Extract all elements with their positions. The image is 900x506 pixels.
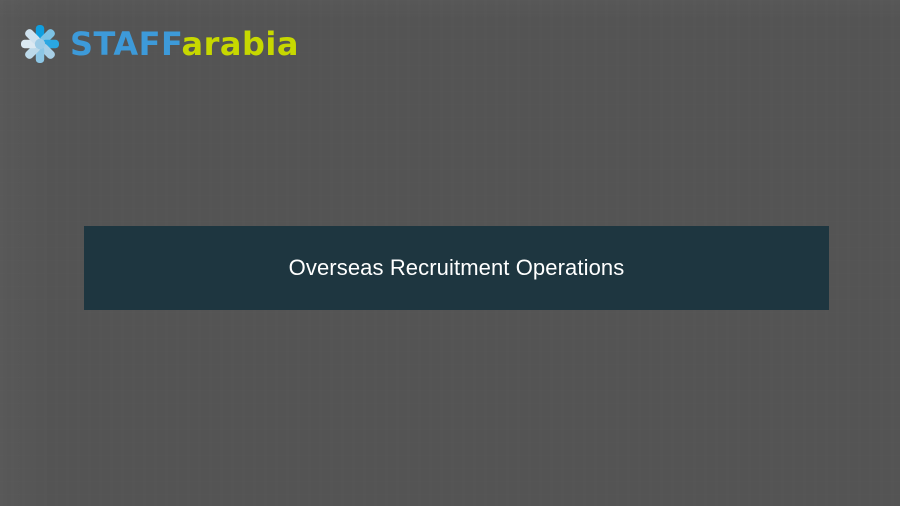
brand-logo: STAFFarabia — [16, 20, 299, 68]
title-banner: Overseas Recruitment Operations — [84, 226, 829, 310]
brand-wordmark-primary: STAFF — [70, 25, 182, 63]
brand-wordmark-secondary: arabia — [182, 25, 299, 63]
presentation-slide: STAFFarabia Overseas Recruitment Operati… — [0, 0, 900, 506]
brand-wordmark: STAFFarabia — [70, 28, 299, 60]
snowflake-logo-icon — [16, 20, 64, 68]
slide-title: Overseas Recruitment Operations — [289, 255, 625, 281]
